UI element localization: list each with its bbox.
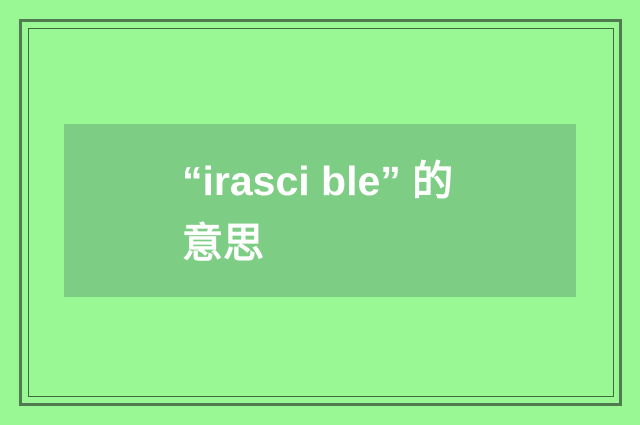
poster-canvas: “irasci ble” 的意思	[0, 0, 640, 425]
page-title: “irasci ble” 的意思	[182, 150, 462, 274]
headline-panel: “irasci ble” 的意思	[64, 124, 576, 297]
